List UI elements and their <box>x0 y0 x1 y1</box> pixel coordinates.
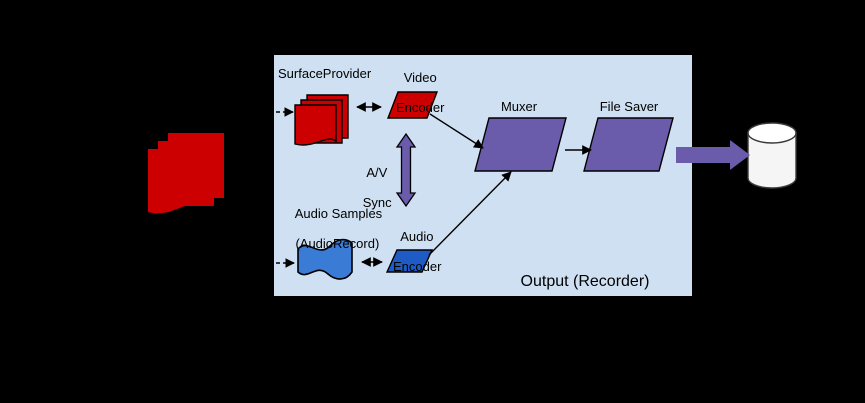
audio-samples-label-line1: Audio Samples <box>295 206 382 221</box>
surface-provider-shape <box>295 95 348 145</box>
audio-samples-label: Audio Samples (AudioRecord) <box>281 191 373 266</box>
file-saver-shape <box>584 118 673 171</box>
output-recorder-panel-label: Output (Recorder) <box>500 272 670 291</box>
muxer-shape <box>475 118 566 171</box>
surface-provider-label: SurfaceProvider <box>278 66 370 81</box>
muxer-label: Muxer <box>483 99 555 114</box>
video-encoder-label: Video Encoder <box>378 55 448 130</box>
audio-samples-label-line2: (AudioRecord) <box>295 236 379 251</box>
audio-encoder-label-line2: Encoder <box>393 259 441 274</box>
audio-encoder-label-line1: Audio <box>400 229 433 244</box>
source-frames-stack <box>148 133 224 213</box>
file-saver-label: File Saver <box>592 99 666 114</box>
diagram-canvas: SurfaceProvider Video Encoder A/V Sync A… <box>0 0 865 403</box>
audio-encoder-label: Audio Encoder <box>375 214 445 289</box>
av-sync-label-line1: A/V <box>366 165 387 180</box>
storage-cylinder-shape <box>748 123 796 188</box>
video-encoder-label-line2: Encoder <box>396 100 444 115</box>
video-encoder-label-line1: Video <box>404 70 437 85</box>
